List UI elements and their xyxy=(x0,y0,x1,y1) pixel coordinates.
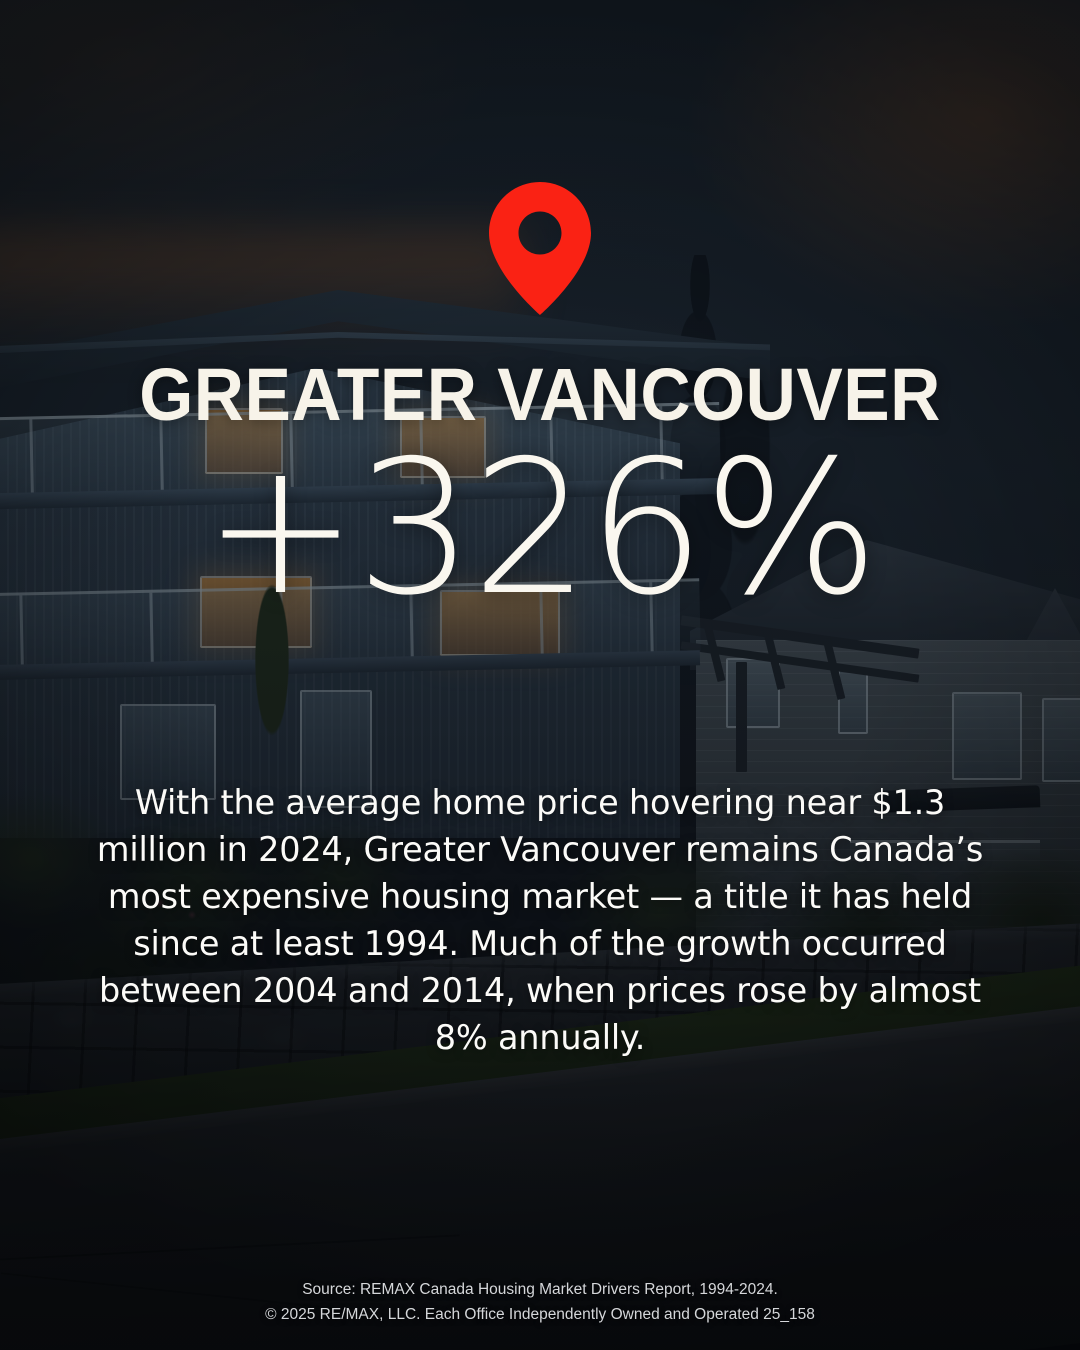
map-pin-icon xyxy=(489,182,591,315)
body-paragraph: With the average home price hovering nea… xyxy=(95,779,985,1061)
map-pin-wrapper xyxy=(0,182,1080,315)
social-stat-card: GREATER VANCOUVER +326% With the average… xyxy=(0,0,1080,1350)
footer-source-line: Source: REMAX Canada Housing Market Driv… xyxy=(0,1277,1080,1302)
card-content: GREATER VANCOUVER +326% With the average… xyxy=(0,0,1080,1350)
stat-value: +326% xyxy=(0,436,1080,621)
footer: Source: REMAX Canada Housing Market Driv… xyxy=(0,1277,1080,1327)
footer-legal-line: © 2025 RE/MAX, LLC. Each Office Independ… xyxy=(0,1302,1080,1327)
